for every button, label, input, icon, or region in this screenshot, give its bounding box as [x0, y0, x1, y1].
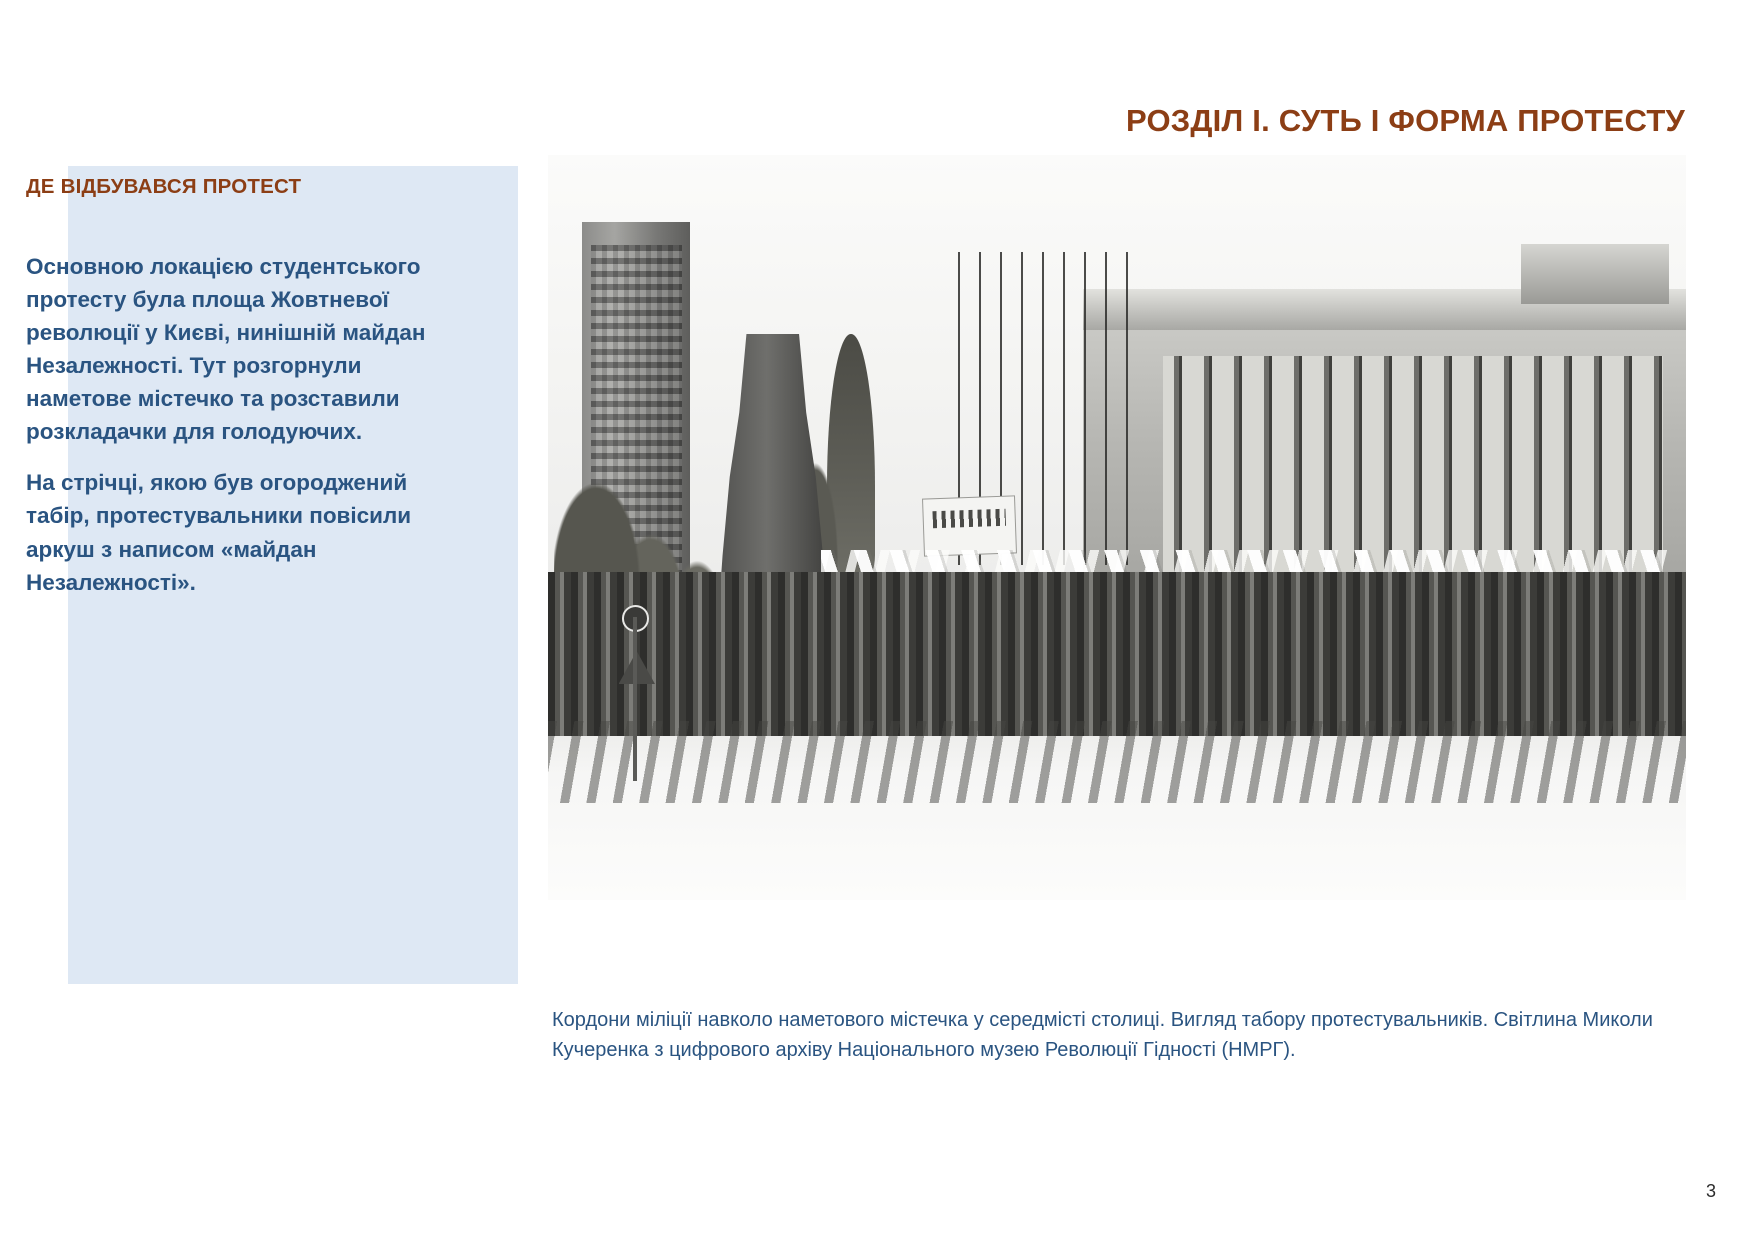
side-panel-paragraph-2: На стрічці, якою був огороджений табір, …	[26, 466, 431, 598]
photo-ground-shadows	[548, 721, 1686, 803]
page-number: 3	[1706, 1181, 1716, 1202]
slide-canvas: РОЗДІЛ І. СУТЬ І ФОРМА ПРОТЕСТУ ДЕ ВІДБУ…	[0, 0, 1754, 1240]
photo-crowd	[548, 572, 1686, 736]
protest-camp-photograph	[548, 155, 1686, 900]
photo-sign-pole	[633, 617, 637, 781]
photograph-block	[548, 155, 1686, 900]
section-title: РОЗДІЛ І. СУТЬ І ФОРМА ПРОТЕСТУ	[700, 103, 1685, 139]
side-panel-body: Основною локацією студентського протесту…	[26, 250, 431, 599]
photo-protest-banner	[923, 496, 1016, 555]
photo-caption: Кордони міліції навколо наметового місте…	[552, 1005, 1722, 1066]
side-panel-heading: ДЕ ВІДБУВАВСЯ ПРОТЕСТ	[26, 175, 426, 200]
side-panel-paragraph-1: Основною локацією студентського протесту…	[26, 250, 431, 448]
photo-rooftop-structure	[1521, 244, 1669, 304]
photo-caption-line-1: Кордони міліції навколо наметового місте…	[552, 1009, 1488, 1031]
